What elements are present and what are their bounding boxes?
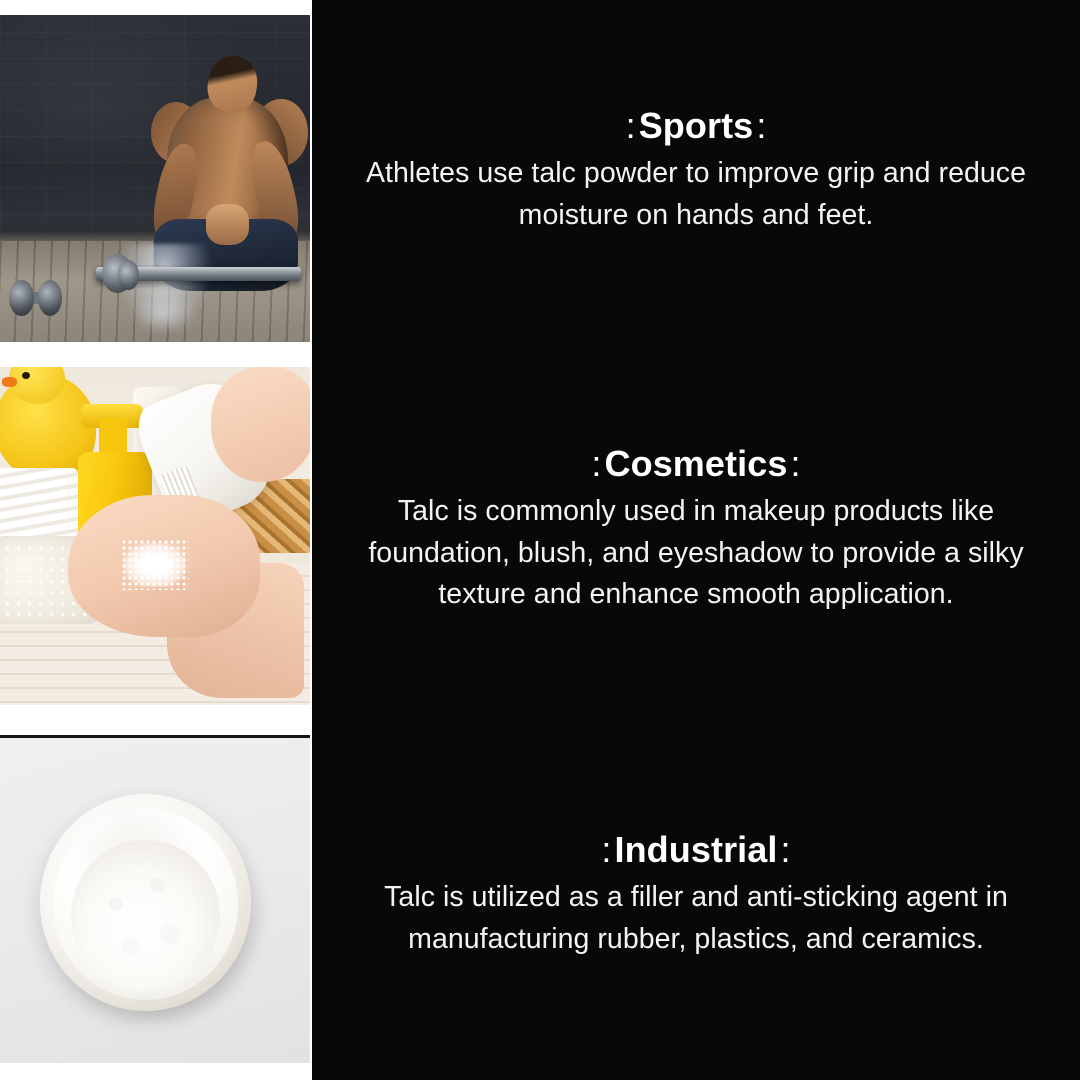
chalk-dust [130, 290, 198, 336]
powder-texture [71, 840, 219, 992]
heading-prefix-colon: : [598, 829, 614, 870]
heading-prefix-colon: : [623, 105, 639, 146]
image-column [0, 0, 312, 1080]
heading-prefix-colon: : [588, 443, 604, 484]
heading-text: Cosmetics [605, 443, 788, 484]
barbell-plate [118, 260, 140, 289]
heading-suffix-colon: : [787, 443, 803, 484]
text-panel: :Sports: Athletes use talc powder to imp… [312, 0, 1080, 1080]
photo-top-edge [0, 735, 310, 738]
talc-uses-infographic: :Sports: Athletes use talc powder to imp… [0, 0, 1080, 1080]
heading-suffix-colon: : [778, 829, 794, 870]
dumbbell [9, 280, 62, 316]
folded-towel [0, 468, 78, 542]
dumbbell-weight [38, 280, 62, 316]
rubber-duck-beak [2, 377, 18, 387]
talc-powder-in-hand-photo [0, 367, 310, 705]
section-industrial: :Industrial: Talc is utilized as a fille… [312, 828, 1080, 960]
section-industrial-body: Talc is utilized as a filler and anti-st… [334, 877, 1058, 960]
heading-text: Industrial [614, 829, 777, 870]
section-cosmetics-body: Talc is commonly used in makeup products… [334, 491, 1058, 615]
pouring-hand [211, 367, 310, 482]
baby-care-background [0, 367, 310, 705]
athlete-chalking-hands-photo [0, 15, 310, 342]
heading-suffix-colon: : [753, 105, 769, 146]
bowl-of-talc-powder-photo [0, 735, 310, 1063]
section-sports-heading: :Sports: [334, 104, 1058, 147]
section-cosmetics: :Cosmetics: Talc is commonly used in mak… [312, 442, 1080, 615]
white-bowl [40, 794, 251, 1010]
section-sports-body: Athletes use talc powder to improve grip… [334, 153, 1058, 236]
bowl-background [0, 735, 310, 1063]
bowl-interior [53, 809, 239, 999]
section-industrial-heading: :Industrial: [334, 828, 1058, 871]
dumbbell-weight [9, 280, 33, 316]
athlete-hands [206, 204, 250, 245]
talc-powder-grains [121, 539, 189, 590]
heading-text: Sports [639, 105, 754, 146]
talc-powder-mound [71, 840, 219, 992]
gym-background [0, 15, 310, 342]
section-sports: :Sports: Athletes use talc powder to imp… [312, 104, 1080, 236]
section-cosmetics-heading: :Cosmetics: [334, 442, 1058, 485]
